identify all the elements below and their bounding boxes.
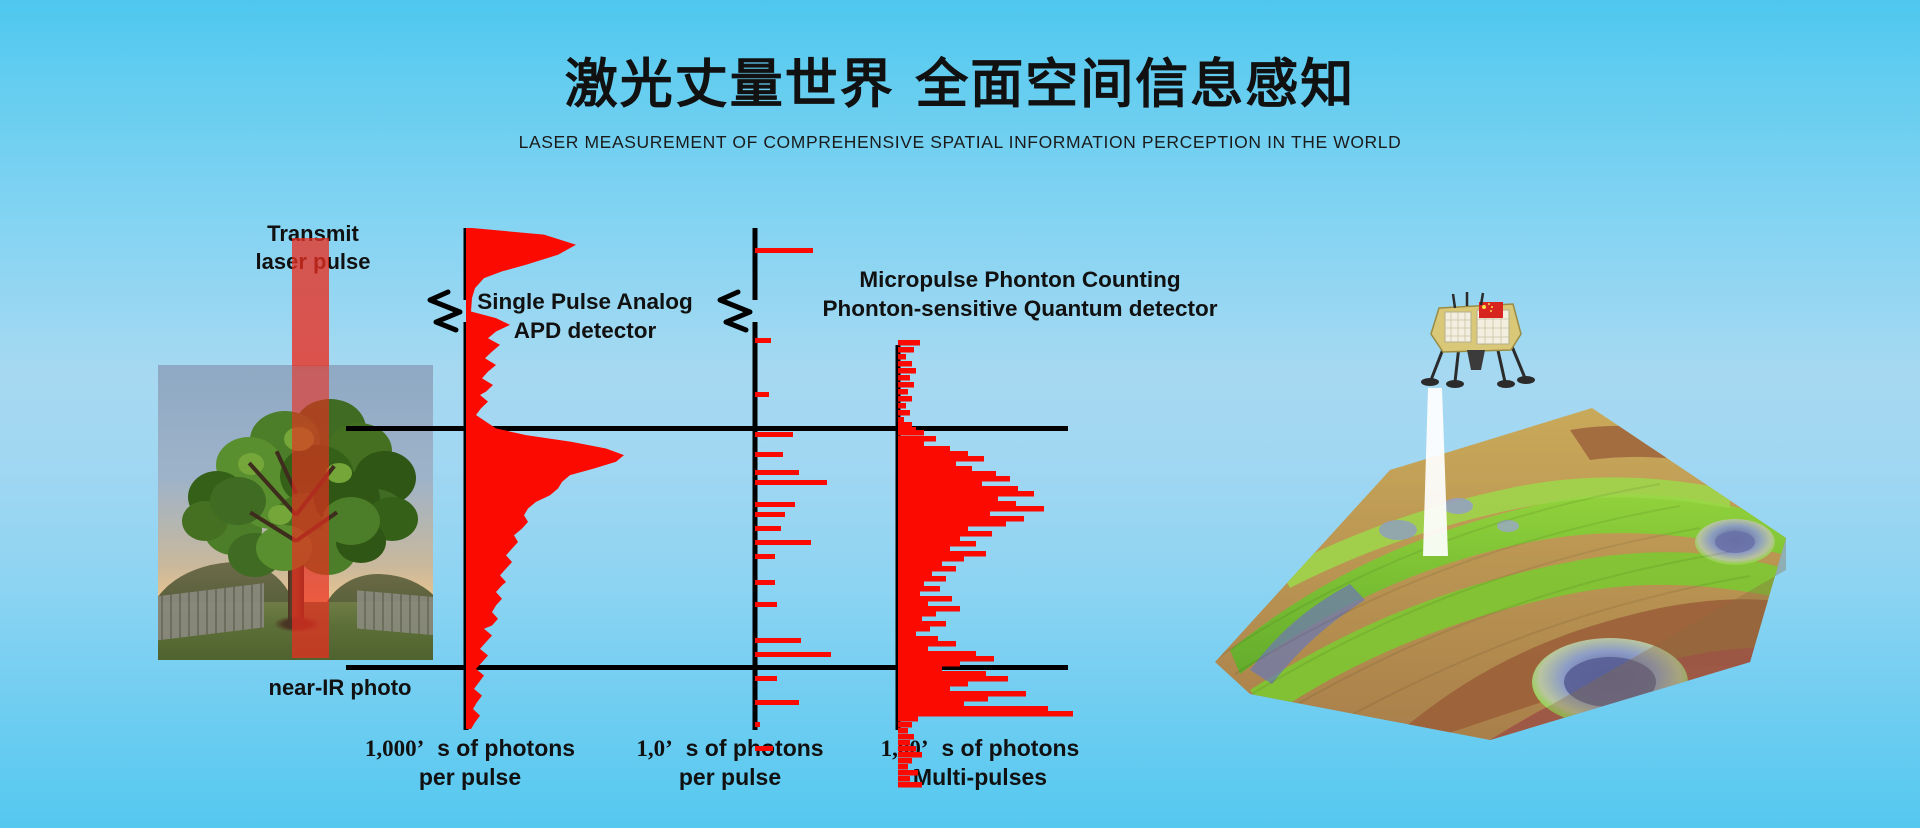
lander-thruster: [1467, 350, 1485, 370]
lidar-diagram: Transmit laser pulse Single Pulse Analog…: [0, 0, 1920, 828]
lander-feet: [1421, 376, 1535, 388]
axis-break-linear: [720, 292, 750, 330]
laser-beam: [292, 238, 329, 658]
lunar-lander: [1415, 288, 1537, 400]
lander-laser-beam: [1423, 388, 1448, 556]
axis-break-analog-left: [430, 292, 460, 330]
